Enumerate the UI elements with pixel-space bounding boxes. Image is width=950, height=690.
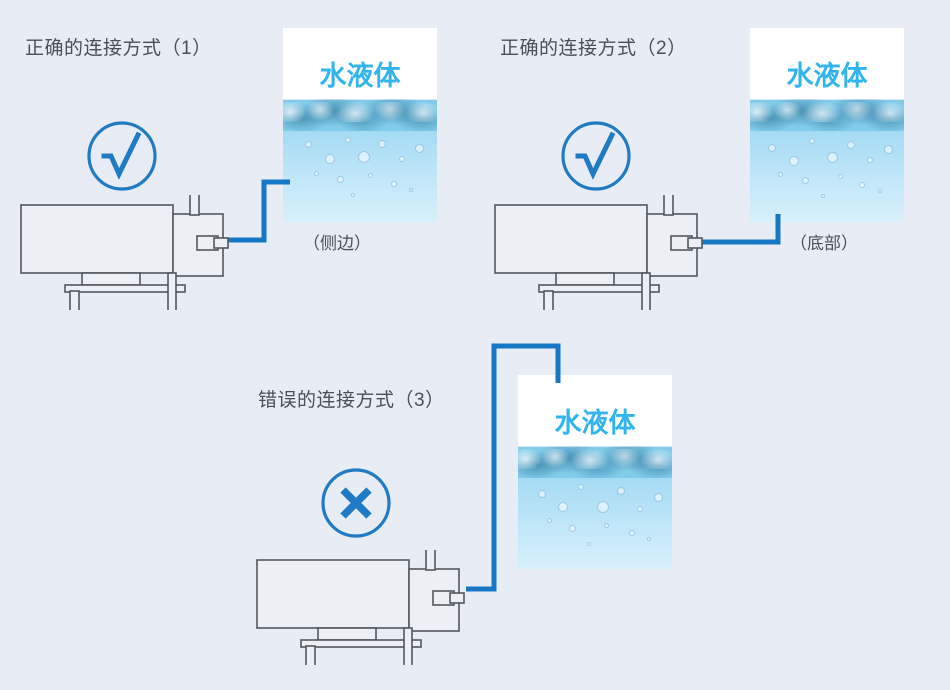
pump-motor-assembly <box>20 195 230 310</box>
tank-label: 水液体 <box>750 54 904 93</box>
panel-3-title: 错误的连接方式（3） <box>258 385 445 412</box>
panel-correct-2: 正确的连接方式（2） 水液体 <box>478 0 950 300</box>
cross-circle-icon <box>318 465 394 541</box>
panel-correct-1: 正确的连接方式（1） 水液体 <box>0 0 470 300</box>
panel-1-title: 正确的连接方式（1） <box>25 33 212 60</box>
water-body <box>283 100 437 222</box>
panel-2-caption: （底部） <box>790 229 858 254</box>
panel-incorrect-3: 错误的连接方式（3） 水液体 <box>230 335 710 690</box>
connection-pipe <box>458 339 578 594</box>
panel-2-title: 正确的连接方式（2） <box>500 33 687 60</box>
check-circle-icon <box>558 118 634 194</box>
water-tank: 水液体 <box>283 28 437 222</box>
pump-motor-assembly <box>494 195 704 310</box>
tank-label: 水液体 <box>283 54 437 93</box>
check-circle-icon <box>84 118 160 194</box>
panel-1-caption: （侧边） <box>303 229 371 254</box>
pump-motor-assembly <box>256 550 466 665</box>
diagram-canvas: 正确的连接方式（1） 水液体 <box>0 0 950 690</box>
tank-label: 水液体 <box>518 401 672 440</box>
bubble-group <box>750 100 904 222</box>
water-tank: 水液体 <box>750 28 904 222</box>
water-body <box>750 100 904 222</box>
bubble-group <box>283 100 437 222</box>
